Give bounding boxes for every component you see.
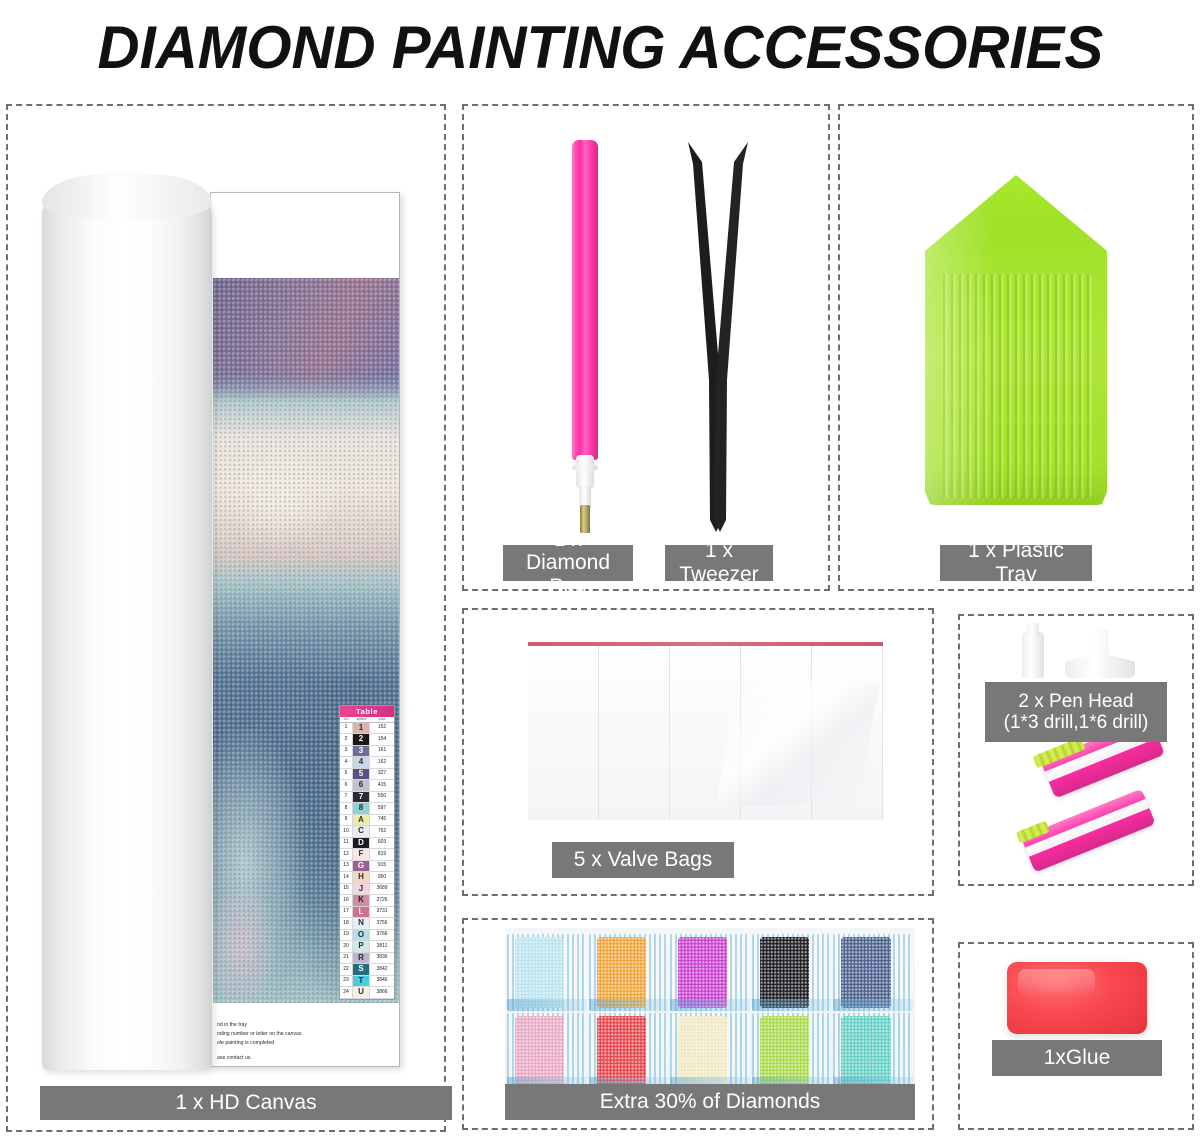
valve-bag	[599, 642, 670, 820]
color-row-number: 16	[340, 895, 353, 906]
color-row-symbol: 6	[353, 780, 370, 791]
diamond-bag	[833, 934, 913, 1011]
instruction-line: nd in the tray	[217, 1021, 397, 1030]
color-row-code: 3766	[370, 930, 394, 941]
diamond-bag-strip	[752, 999, 832, 1011]
caption-extra-diamonds: Extra 30% of Diamonds	[505, 1084, 915, 1120]
canvas-instructions: nd in the traynding number or letter on …	[217, 1021, 397, 1063]
diamond-bag-fill	[678, 937, 727, 1008]
color-table-row: 66415	[340, 780, 394, 792]
diamond-bag-strip	[507, 999, 587, 1011]
color-row-code: 3836	[370, 953, 394, 964]
color-table-row: 17L3731	[340, 907, 394, 919]
diamond-bag-fill	[515, 937, 564, 1008]
color-row-symbol: R	[353, 953, 370, 964]
diamond-bag-row-2	[505, 1013, 915, 1088]
caption-tweezer: 1 x Tweezer	[665, 545, 773, 581]
color-row-code: 3846	[370, 976, 394, 987]
color-row-code: 162	[370, 757, 394, 768]
caption-plastic-tray: 1 x Plastic Tray	[940, 545, 1092, 581]
caption-hd-canvas: 1 x HD Canvas	[40, 1086, 452, 1120]
diamond-bag-fill	[515, 1016, 564, 1087]
diamond-bag-strip	[670, 999, 750, 1011]
diamond-bag-fill	[841, 937, 890, 1008]
infographic-page: DIAMOND PAINTING ACCESSORIES Table NO. s…	[0, 0, 1200, 1139]
color-table-row: 18N3756	[340, 918, 394, 930]
color-row-number: 19	[340, 930, 353, 941]
page-title: DIAMOND PAINTING ACCESSORIES	[0, 0, 1200, 95]
valve-bag-seal	[528, 642, 883, 646]
color-row-symbol: K	[353, 895, 370, 906]
color-table-row: 77550	[340, 792, 394, 804]
rolled-canvas	[42, 175, 212, 1070]
caption-valve-bags: 5 x Valve Bags	[552, 842, 734, 878]
caption-diamond-pen: 1 x Diamond Pen	[503, 545, 633, 581]
color-row-code: 161	[370, 746, 394, 757]
color-row-symbol: A	[353, 815, 370, 826]
diamond-bag	[589, 934, 669, 1011]
color-row-symbol: U	[353, 987, 370, 998]
color-table-row: 20P3811	[340, 941, 394, 953]
instruction-line: ase contact us.	[217, 1054, 397, 1063]
color-row-symbol: 2	[353, 734, 370, 745]
diamond-pen-collar	[576, 455, 594, 489]
color-row-symbol: D	[353, 838, 370, 849]
color-row-symbol: 7	[353, 792, 370, 803]
color-row-symbol: 1	[353, 723, 370, 734]
color-row-symbol: 5	[353, 769, 370, 780]
diamond-bag	[670, 1013, 750, 1088]
color-row-code: 3756	[370, 918, 394, 929]
color-row-code: 3731	[370, 907, 394, 918]
glue-block	[1007, 962, 1147, 1034]
color-row-code: 3689	[370, 884, 394, 895]
color-row-code: 3811	[370, 941, 394, 952]
color-table-row: 13G915	[340, 861, 394, 873]
color-table-row: 24U3866	[340, 987, 394, 999]
instruction-line: ole painting is completed	[217, 1039, 397, 1048]
diamond-bag-strip	[589, 999, 669, 1011]
color-row-symbol: G	[353, 861, 370, 872]
color-row-code: 3726	[370, 895, 394, 906]
color-table-row: 10C762	[340, 826, 394, 838]
color-row-number: 6	[340, 780, 353, 791]
color-row-symbol: 8	[353, 803, 370, 814]
color-row-number: 3	[340, 746, 353, 757]
color-row-symbol: N	[353, 918, 370, 929]
color-row-code: 3842	[370, 964, 394, 975]
col-header-no: NO.	[340, 717, 353, 722]
color-row-symbol: S	[353, 964, 370, 975]
color-table-row: 12F819	[340, 849, 394, 861]
color-row-symbol: C	[353, 826, 370, 837]
diamond-bag-fill	[841, 1016, 890, 1087]
color-row-code: 415	[370, 780, 394, 791]
color-table-row: 21R3836	[340, 953, 394, 965]
color-table-body: 1115222154331614416255327664157755088597…	[340, 723, 394, 999]
color-table-row: 44162	[340, 757, 394, 769]
col-header-symbol: symbol	[353, 717, 370, 722]
color-table-row: 22S3842	[340, 964, 394, 976]
color-row-number: 5	[340, 769, 353, 780]
color-table-row: 15J3689	[340, 884, 394, 896]
color-row-number: 14	[340, 872, 353, 883]
diamond-bag-fill	[760, 937, 809, 1008]
diamond-bag-fill	[678, 1016, 727, 1087]
color-row-number: 8	[340, 803, 353, 814]
color-row-code: 154	[370, 734, 394, 745]
diamond-bag	[752, 934, 832, 1011]
color-row-number: 15	[340, 884, 353, 895]
color-code-table: Table NO. symbol color 11152221543316144…	[339, 705, 395, 1000]
valve-bags	[528, 642, 883, 820]
color-table-row: 11D603	[340, 838, 394, 850]
instruction-line: nding number or letter on the canvas	[217, 1030, 397, 1039]
color-row-number: 18	[340, 918, 353, 929]
diamond-bag-fill	[760, 1016, 809, 1087]
diamond-bag-fill	[597, 937, 646, 1008]
color-table-row: 9A745	[340, 815, 394, 827]
color-row-number: 20	[340, 941, 353, 952]
diamond-bag-row-1	[505, 934, 915, 1011]
color-table-row: 23T3846	[340, 976, 394, 988]
color-row-symbol: F	[353, 849, 370, 860]
diamond-bag-strip	[833, 999, 913, 1011]
color-row-code: 597	[370, 803, 394, 814]
tweezer-icon	[676, 140, 760, 535]
color-row-number: 2	[340, 734, 353, 745]
canvas-sheet: Table NO. symbol color 11152221543316144…	[210, 192, 400, 1067]
color-row-number: 1	[340, 723, 353, 734]
color-row-code: 327	[370, 769, 394, 780]
page-title-text: DIAMOND PAINTING ACCESSORIES	[97, 13, 1103, 82]
diamond-bag	[507, 934, 587, 1011]
col-header-color: color	[370, 717, 394, 722]
diamond-bag	[670, 934, 750, 1011]
diamond-bag	[752, 1013, 832, 1088]
color-row-number: 17	[340, 907, 353, 918]
valve-bag	[528, 642, 599, 820]
color-row-code: 819	[370, 849, 394, 860]
color-row-symbol: P	[353, 941, 370, 952]
color-row-number: 13	[340, 861, 353, 872]
color-table-row: 22154	[340, 734, 394, 746]
color-row-code: 915	[370, 861, 394, 872]
color-table-row: 19O3766	[340, 930, 394, 942]
color-table-row: 88597	[340, 803, 394, 815]
color-row-number: 23	[340, 976, 353, 987]
valve-bag-gloss	[716, 681, 880, 806]
color-row-number: 22	[340, 964, 353, 975]
diamond-bag-fill	[597, 1016, 646, 1087]
color-table-row: 55327	[340, 769, 394, 781]
color-table-row: 14H950	[340, 872, 394, 884]
color-row-code: 950	[370, 872, 394, 883]
caption-glue: 1xGlue	[992, 1040, 1162, 1076]
color-row-number: 12	[340, 849, 353, 860]
color-row-symbol: H	[353, 872, 370, 883]
color-row-code: 762	[370, 826, 394, 837]
diamond-pen-barrel	[572, 140, 598, 460]
color-row-symbol: T	[353, 976, 370, 987]
color-table-header: Table	[340, 706, 394, 717]
color-row-number: 24	[340, 987, 353, 998]
color-row-number: 7	[340, 792, 353, 803]
glue-highlight	[1018, 969, 1095, 996]
color-row-code: 3866	[370, 987, 394, 998]
color-row-number: 11	[340, 838, 353, 849]
tweezer	[676, 140, 760, 535]
caption-pen-head: 2 x Pen Head (1*3 drill,1*6 drill)	[985, 682, 1167, 742]
color-row-code: 745	[370, 815, 394, 826]
color-row-symbol: O	[353, 930, 370, 941]
color-row-symbol: 3	[353, 746, 370, 757]
color-table-row: 16K3726	[340, 895, 394, 907]
color-row-symbol: J	[353, 884, 370, 895]
color-row-code: 152	[370, 723, 394, 734]
color-row-code: 603	[370, 838, 394, 849]
diamond-bag	[507, 1013, 587, 1088]
color-row-code: 550	[370, 792, 394, 803]
color-row-number: 4	[340, 757, 353, 768]
color-row-number: 9	[340, 815, 353, 826]
pen-head-1x3-drill	[1022, 632, 1044, 678]
diamond-bag	[589, 1013, 669, 1088]
diamond-bag	[833, 1013, 913, 1088]
color-row-symbol: L	[353, 907, 370, 918]
color-row-number: 10	[340, 826, 353, 837]
color-row-symbol: 4	[353, 757, 370, 768]
color-table-row: 33161	[340, 746, 394, 758]
panel-pen-tweezer	[462, 104, 830, 591]
color-table-row: 11152	[340, 723, 394, 735]
diamond-bags-photo	[505, 928, 915, 1088]
color-row-number: 21	[340, 953, 353, 964]
